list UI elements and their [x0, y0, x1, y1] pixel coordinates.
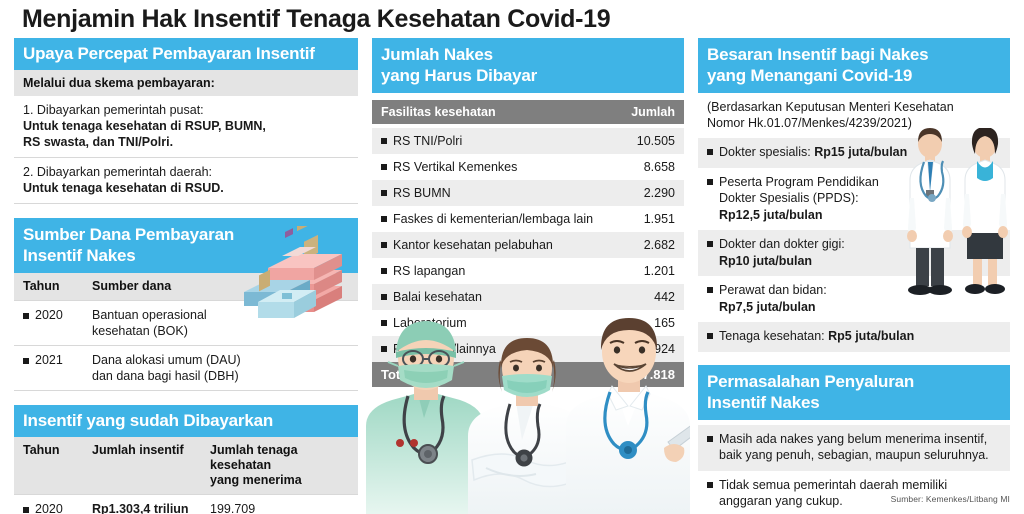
row-label-text: RS lapangan — [393, 263, 465, 279]
cell-tahun: 2020 — [14, 495, 92, 514]
female-doctor-small — [962, 128, 1008, 294]
row-label: RS Vertikal Kemenkes — [381, 159, 517, 175]
row-label: Kantor kesehatan pelabuhan — [381, 237, 553, 253]
bullet-square-icon — [381, 190, 387, 196]
besaran-item-5: Tenaga kesehatan: Rp5 juta/bulan — [698, 322, 1010, 352]
col-header-fasilitas: Fasilitas kesehatan — [381, 105, 496, 119]
bullet-square-icon — [23, 358, 29, 364]
besaran-item-3-line1: Dokter dan dokter gigi: — [719, 236, 845, 253]
jumlah-nakes-heading-line2: yang Harus Dibayar — [381, 65, 675, 86]
upaya-item-1-line2: RS swasta, dan TNI/Polri. — [23, 134, 349, 150]
infographic-page: Menjamin Hak Insentif Tenaga Kesehatan C… — [0, 0, 1024, 514]
upaya-item-1: 1. Dibayarkan pemerintah pusat: Untuk te… — [14, 96, 358, 158]
bullet-square-icon — [707, 436, 713, 442]
cell-jumlah-insentif: Rp1.303,4 triliun — [92, 495, 210, 514]
table-row: RS Vertikal Kemenkes 8.658 — [372, 154, 684, 180]
besaran-item-2-text: Peserta Program Pendidikan Dokter Spesia… — [719, 174, 879, 224]
col-header-jumlah-nakes-line3: yang menerima — [210, 473, 352, 488]
bullet-square-icon — [707, 241, 713, 247]
section-heading-upaya: Upaya Percepat Pembayaran Insentif — [14, 38, 358, 70]
row-label-text: RS TNI/Polri — [393, 133, 462, 149]
table-row: 2021 Dana alokasi umum (DAU) dan dana ba… — [14, 346, 358, 391]
row-label-text: Faskes di kementerian/lembaga lain — [393, 211, 593, 227]
row-label: Balai kesehatan — [381, 289, 482, 305]
money-stack-illustration — [242, 226, 360, 330]
permasalahan-item: Tidak semua pemerintah daerah memiliki a… — [698, 471, 1010, 514]
besaran-item-1-label: Dokter spesialis: — [719, 145, 814, 159]
row-value: 10.505 — [627, 133, 675, 149]
bullet-square-icon — [707, 287, 713, 293]
permasalahan-heading-line2: Insentif Nakes — [707, 392, 1001, 413]
cell-jumlah-nakes: 199.709 — [210, 495, 358, 514]
row-label-text: Kantor kesehatan pelabuhan — [393, 237, 553, 253]
col-header-tahun: Tahun — [14, 437, 92, 495]
cell-tahun-value: 2020 — [35, 502, 63, 514]
besaran-item-2-amount: Rp12,5 juta/bulan — [719, 208, 823, 222]
bullet-square-icon — [381, 242, 387, 248]
bullet-square-icon — [381, 294, 387, 300]
row-value: 1.951 — [634, 211, 675, 227]
permasalahan-item-text: Masih ada nakes yang belum menerima inse… — [719, 431, 1001, 464]
row-label-text: Balai kesehatan — [393, 289, 482, 305]
besaran-item-5-text: Tenaga kesehatan: Rp5 juta/bulan — [719, 328, 914, 345]
cell-sumber-line1: Dana alokasi umum (DAU) — [92, 352, 352, 368]
bullet-square-icon — [381, 164, 387, 170]
insentif-dibayarkan-table: Tahun Jumlah insentif Jumlah tenaga kese… — [14, 437, 358, 514]
permasalahan-item-text: Tidak semua pemerintah daerah memiliki a… — [719, 477, 1001, 510]
bullet-square-icon — [381, 216, 387, 222]
besaran-heading-line1: Besaran Insentif bagi Nakes — [707, 44, 1001, 65]
row-value: 2.682 — [634, 237, 675, 253]
source-credit: Sumber: Kemenkes/Litbang MI — [891, 494, 1010, 504]
row-label: Faskes di kementerian/lembaga lain — [381, 211, 593, 227]
col-header-jumlah-nakes-line2: kesehatan — [210, 458, 352, 473]
row-label: RS BUMN — [381, 185, 451, 201]
col-header-jumlah-nakes: Jumlah tenaga kesehatan yang menerima — [210, 437, 358, 495]
cell-tahun-value: 2020 — [35, 308, 63, 322]
nakes-table-header: Fasilitas kesehatan Jumlah — [372, 100, 684, 124]
bullet-square-icon — [23, 313, 29, 319]
table-row: RS TNI/Polri 10.505 — [372, 128, 684, 154]
three-doctors-illustration — [352, 318, 690, 514]
table-row: Balai kesehatan 442 — [372, 284, 684, 310]
besaran-item-1-amount: Rp15 juta/bulan — [814, 145, 907, 159]
row-value: 2.290 — [634, 185, 675, 201]
besaran-item-5-amount: Rp5 juta/bulan — [828, 329, 914, 343]
row-value: 1.201 — [634, 263, 675, 279]
besaran-item-4-text: Perawat dan bidan: Rp7,5 juta/bulan — [719, 282, 827, 315]
col-header-jumlah: Jumlah — [631, 105, 675, 119]
bullet-square-icon — [707, 179, 713, 185]
table-row: RS lapangan 1.201 — [372, 258, 684, 284]
besaran-item-3-text: Dokter dan dokter gigi: Rp10 juta/bulan — [719, 236, 845, 269]
col-header-jumlah-nakes-line1: Jumlah tenaga — [210, 443, 352, 458]
cell-sumber: Dana alokasi umum (DAU) dan dana bagi ha… — [92, 346, 358, 391]
table-row: RS BUMN 2.290 — [372, 180, 684, 206]
bullet-square-icon — [707, 333, 713, 339]
doctor-and-nurse-illustration — [900, 128, 1020, 303]
besaran-item-4-line1: Perawat dan bidan: — [719, 282, 827, 299]
bullet-square-icon — [381, 268, 387, 274]
page-title: Menjamin Hak Insentif Tenaga Kesehatan C… — [22, 5, 610, 34]
permasalahan-item: Masih ada nakes yang belum menerima inse… — [698, 425, 1010, 471]
upaya-item-1-lead: 1. Dibayarkan pemerintah pusat: — [23, 102, 349, 118]
row-label: RS TNI/Polri — [381, 133, 462, 149]
table-row: 2020 Rp1.303,4 triliun 199.709 — [14, 495, 358, 514]
row-value: 442 — [644, 289, 675, 305]
bullet-square-icon — [707, 149, 713, 155]
row-label-text: RS Vertikal Kemenkes — [393, 159, 517, 175]
cell-tahun: 2020 — [14, 301, 92, 346]
cell-tahun: 2021 — [14, 346, 92, 391]
male-doctor-small — [907, 128, 953, 295]
besaran-legal-note-line1: (Berdasarkan Keputusan Menteri Kesehatan — [707, 99, 1001, 115]
row-label-text: RS BUMN — [393, 185, 451, 201]
bullet-square-icon — [707, 482, 713, 488]
section-heading-permasalahan: Permasalahan Penyaluran Insentif Nakes — [698, 365, 1010, 420]
permasalahan-heading-line1: Permasalahan Penyaluran — [707, 371, 1001, 392]
cell-tahun-value: 2021 — [35, 353, 63, 367]
upaya-item-2-line1: Untuk tenaga kesehatan di RSUD. — [23, 180, 349, 196]
besaran-heading-line2: yang Menangani Covid-19 — [707, 65, 1001, 86]
upaya-item-1-line1: Untuk tenaga kesehatan di RSUP, BUMN, — [23, 118, 349, 134]
col-header-jumlah-insentif: Jumlah insentif — [92, 437, 210, 495]
table-row: Kantor kesehatan pelabuhan 2.682 — [372, 232, 684, 258]
male-doctor-figure — [566, 318, 690, 514]
table-row: Faskes di kementerian/lembaga lain 1.951 — [372, 206, 684, 232]
besaran-item-1-text: Dokter spesialis: Rp15 juta/bulan — [719, 144, 907, 161]
section-heading-besaran-insentif: Besaran Insentif bagi Nakes yang Menanga… — [698, 38, 1010, 93]
cell-sumber-line2: dan dana bagi hasil (DBH) — [92, 368, 352, 384]
row-label: RS lapangan — [381, 263, 465, 279]
upaya-subheading: Melalui dua skema pembayaran: — [14, 70, 358, 96]
row-value: 8.658 — [634, 159, 675, 175]
bullet-square-icon — [23, 507, 29, 513]
surgeon-figure — [366, 321, 484, 514]
besaran-item-2-line1: Peserta Program Pendidikan — [719, 174, 879, 191]
besaran-item-2-line2: Dokter Spesialis (PPDS): — [719, 190, 879, 207]
upaya-item-2: 2. Dibayarkan pemerintah daerah: Untuk t… — [14, 158, 358, 204]
section-heading-jumlah-nakes: Jumlah Nakes yang Harus Dibayar — [372, 38, 684, 93]
col-header-tahun: Tahun — [14, 273, 92, 301]
besaran-item-4-amount: Rp7,5 juta/bulan — [719, 300, 816, 314]
table-header-row: Tahun Jumlah insentif Jumlah tenaga kese… — [14, 437, 358, 495]
bullet-square-icon — [381, 138, 387, 144]
besaran-item-5-label: Tenaga kesehatan: — [719, 329, 828, 343]
besaran-item-3-amount: Rp10 juta/bulan — [719, 254, 812, 268]
upaya-item-2-lead: 2. Dibayarkan pemerintah daerah: — [23, 164, 349, 180]
section-heading-insentif-dibayarkan: Insentif yang sudah Dibayarkan — [14, 405, 358, 437]
jumlah-nakes-heading-line1: Jumlah Nakes — [381, 44, 675, 65]
